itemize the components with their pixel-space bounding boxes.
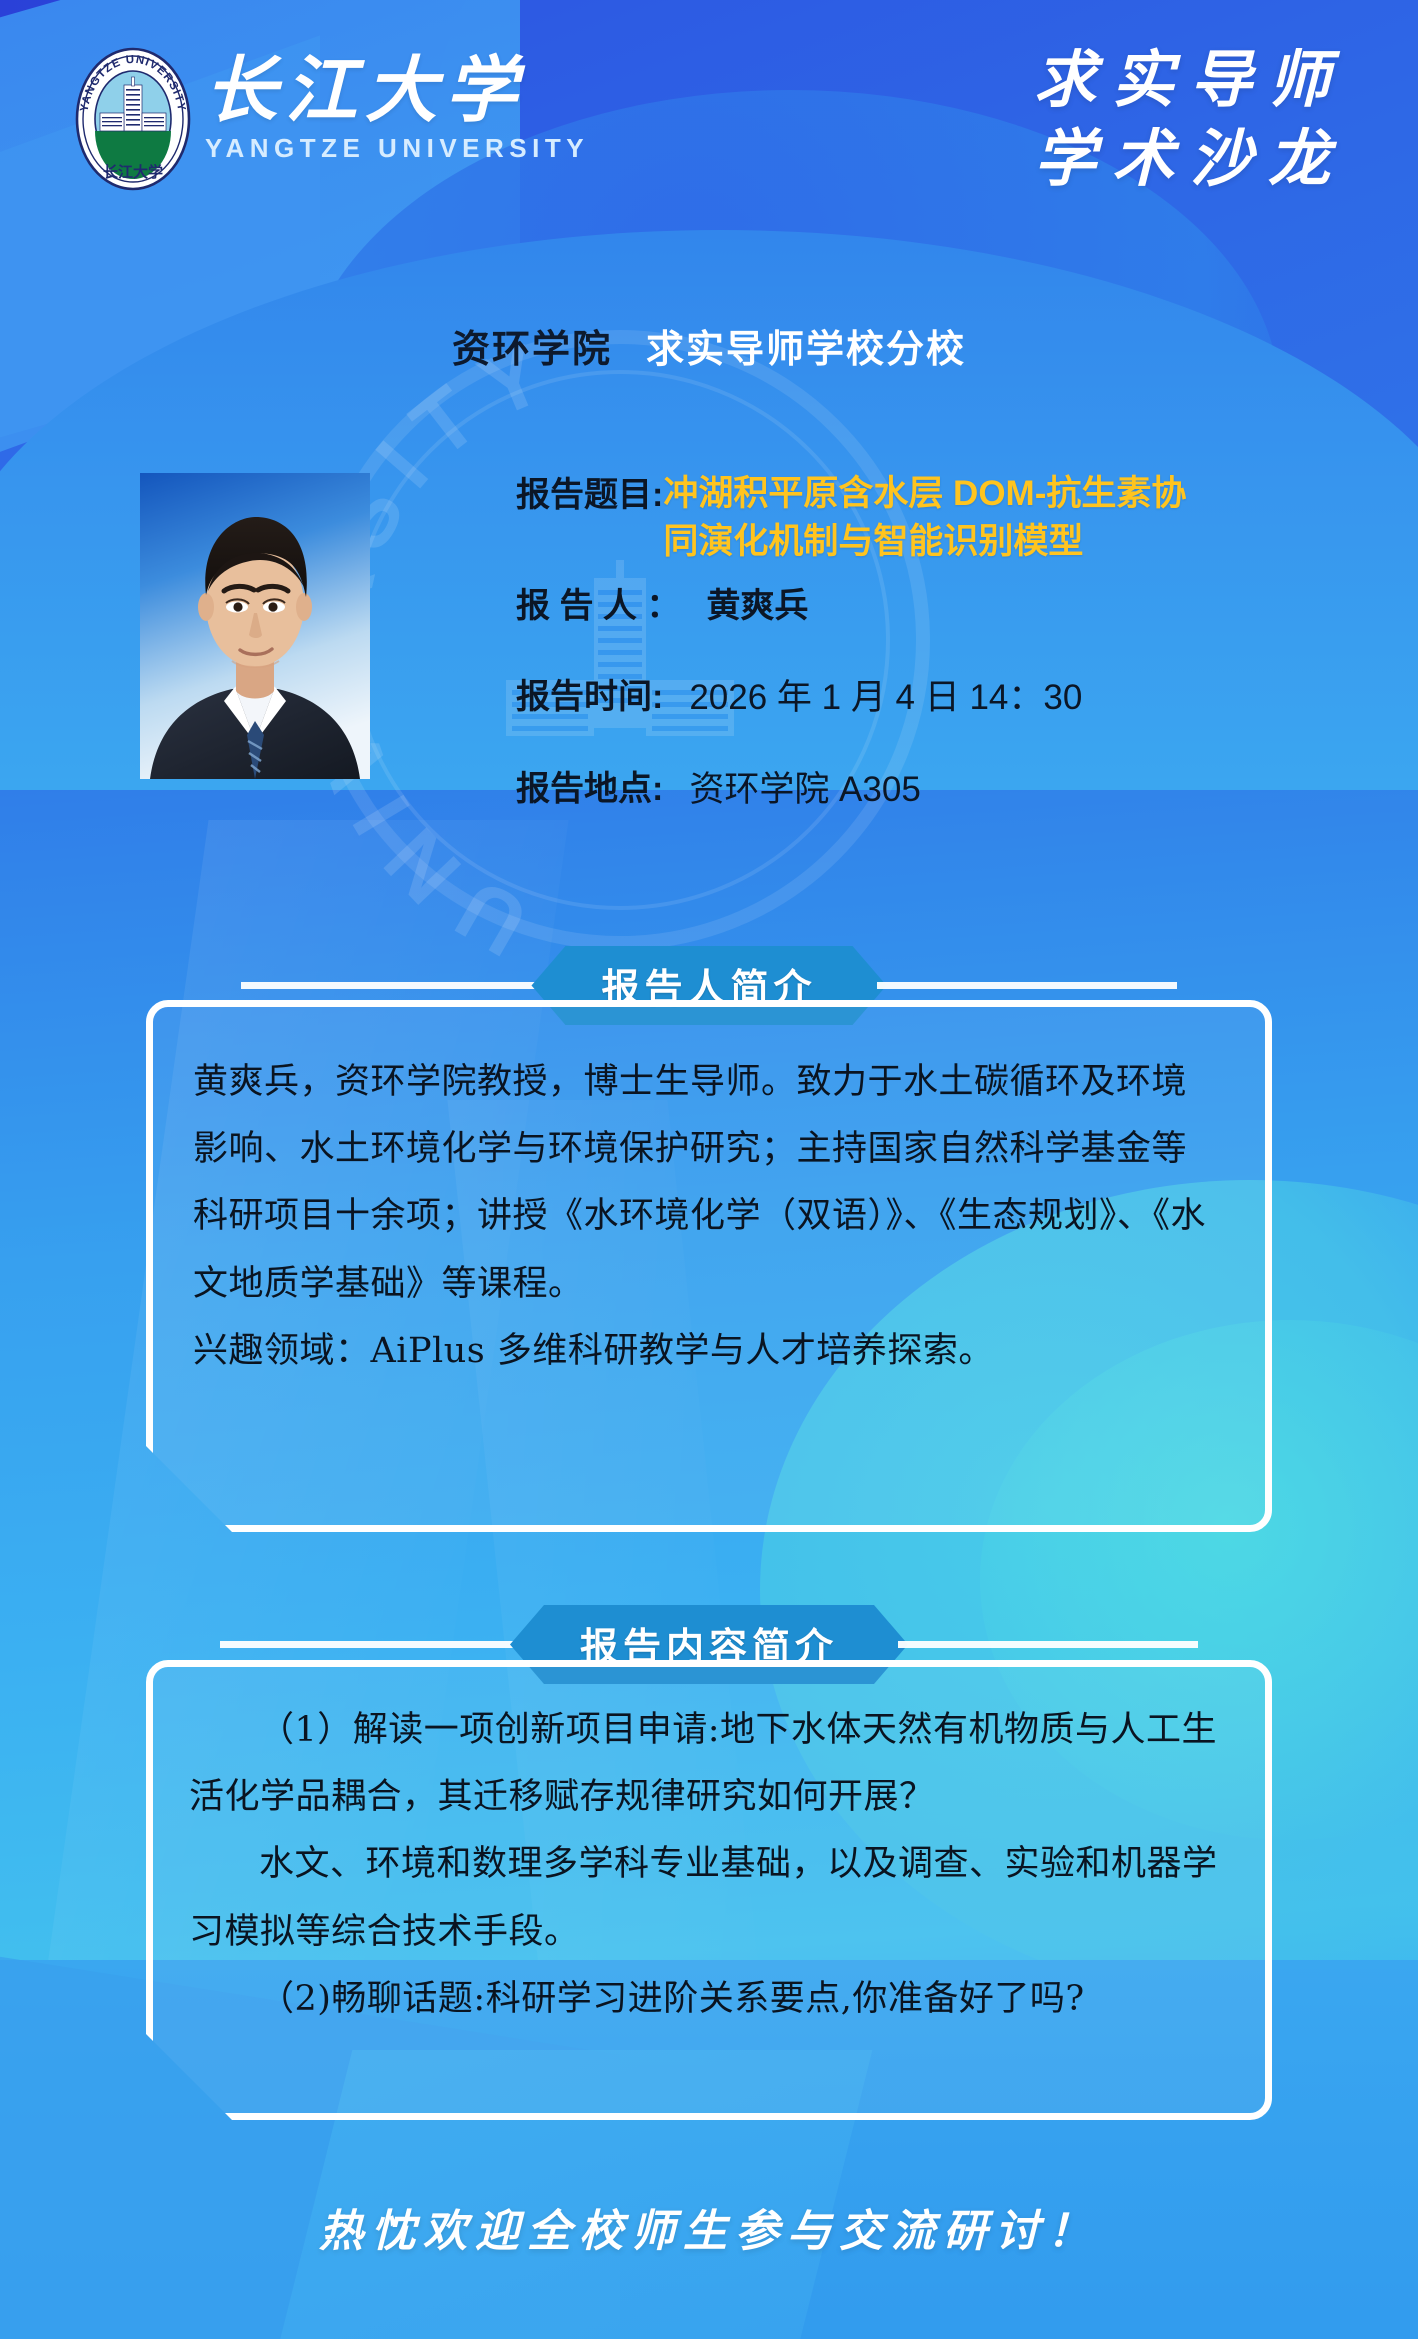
bio-paragraph-1: 黄爽兵，资环学院教授，博士生导师。致力于水土碳循环及环境影响、水土环境化学与环境… xyxy=(193,1049,1221,1318)
content-paragraph-1: （1）解读一项创新项目申请:地下水体天然有机物质与人工生活化学品耦合，其迁移赋存… xyxy=(189,1697,1225,1831)
speaker-label: 报 告 人 ： xyxy=(516,581,680,632)
content-paragraph-3: （2)畅聊话题:科研学习进阶关系要点,你准备好了吗? xyxy=(189,1966,1225,2033)
footer-welcome: 热忱欢迎全校师生参与交流研讨！ xyxy=(0,2195,1418,2259)
bio-paragraph-2: 兴趣领域：AiPlus 多维科研教学与人才培养探索。 xyxy=(193,1318,1221,1385)
banner-rule-right-2 xyxy=(898,1641,1198,1648)
time-label: 报告时间: xyxy=(516,672,663,723)
banner-rule-left-2 xyxy=(220,1641,520,1648)
info-row-place: 报告地点: 资环学院 A305 xyxy=(516,764,1396,817)
subheading: 资环学院求实导师学校分校 xyxy=(0,318,1418,373)
place-label: 报告地点: xyxy=(516,764,663,815)
talk-content-text: （1）解读一项创新项目申请:地下水体天然有机物质与人工生活化学品耦合，其迁移赋存… xyxy=(189,1697,1225,2033)
subheading-branch: 求实导师学校分校 xyxy=(646,329,966,371)
info-row-speaker: 报 告 人 ： 黄爽兵 xyxy=(516,581,1396,632)
talk-title-value: 冲湖积平原含水层 DOM-抗生素协同演化机制与智能识别模型 xyxy=(663,470,1208,567)
speaker-value: 黄爽兵 xyxy=(706,581,808,632)
talk-content-inner: （1）解读一项创新项目申请:地下水体天然有机物质与人工生活化学品耦合，其迁移赋存… xyxy=(153,1667,1265,2061)
content-paragraph-2: 水文、环境和数理多学科专业基础，以及调查、实验和机器学习模拟等综合技术手段。 xyxy=(189,1831,1225,1965)
speaker-photo-icon xyxy=(140,473,370,779)
university-seal-icon: YANGTZE UNIVERSITY 长江大学 xyxy=(74,47,192,192)
salon-title-line-2: 学术沙龙 xyxy=(1018,119,1346,198)
talk-title-label: 报告题目: xyxy=(516,470,663,521)
time-value: 2026 年 1 月 4 日 14：30 xyxy=(689,672,1082,725)
poster-root: UNIVERSITY xyxy=(0,0,1418,2339)
place-value: 资环学院 A305 xyxy=(689,764,920,817)
talk-info-block: 报告题目: 冲湖积平原含水层 DOM-抗生素协同演化机制与智能识别模型 报 告 … xyxy=(516,470,1396,823)
salon-title-line-1: 求实导师 xyxy=(1018,40,1346,119)
university-name-en: YANGTZE UNIVERSITY xyxy=(205,133,605,164)
university-logo: YANGTZE UNIVERSITY 长江大学 xyxy=(74,47,192,192)
info-row-title: 报告题目: 冲湖积平原含水层 DOM-抗生素协同演化机制与智能识别模型 xyxy=(516,470,1396,567)
bio-text: 黄爽兵，资环学院教授，博士生导师。致力于水土碳循环及环境影响、水土环境化学与环境… xyxy=(193,1049,1221,1385)
subheading-college: 资环学院 xyxy=(452,329,612,371)
banner-rule-right xyxy=(877,982,1177,989)
info-row-time: 报告时间: 2026 年 1 月 4 日 14：30 xyxy=(516,672,1396,725)
speaker-portrait xyxy=(140,473,370,779)
banner-rule-left xyxy=(241,982,541,989)
bio-content-inner: 黄爽兵，资环学院教授，博士生导师。致力于水土碳循环及环境影响、水土环境化学与环境… xyxy=(153,1007,1265,1425)
talk-content-box: （1）解读一项创新项目申请:地下水体天然有机物质与人工生活化学品耦合，其迁移赋存… xyxy=(146,1660,1272,2120)
poster-header: YANGTZE UNIVERSITY 长江大学 长江大学 YANGTZE UNI… xyxy=(0,0,1418,300)
university-name-block: 长江大学 YANGTZE UNIVERSITY xyxy=(205,50,605,164)
svg-text:长江大学: 长江大学 xyxy=(103,163,163,181)
bio-content-box: 黄爽兵，资环学院教授，博士生导师。致力于水土碳循环及环境影响、水土环境化学与环境… xyxy=(146,1000,1272,1532)
salon-title-block: 求实导师 学术沙龙 xyxy=(1018,40,1346,199)
university-name-cn: 长江大学 xyxy=(205,50,605,129)
